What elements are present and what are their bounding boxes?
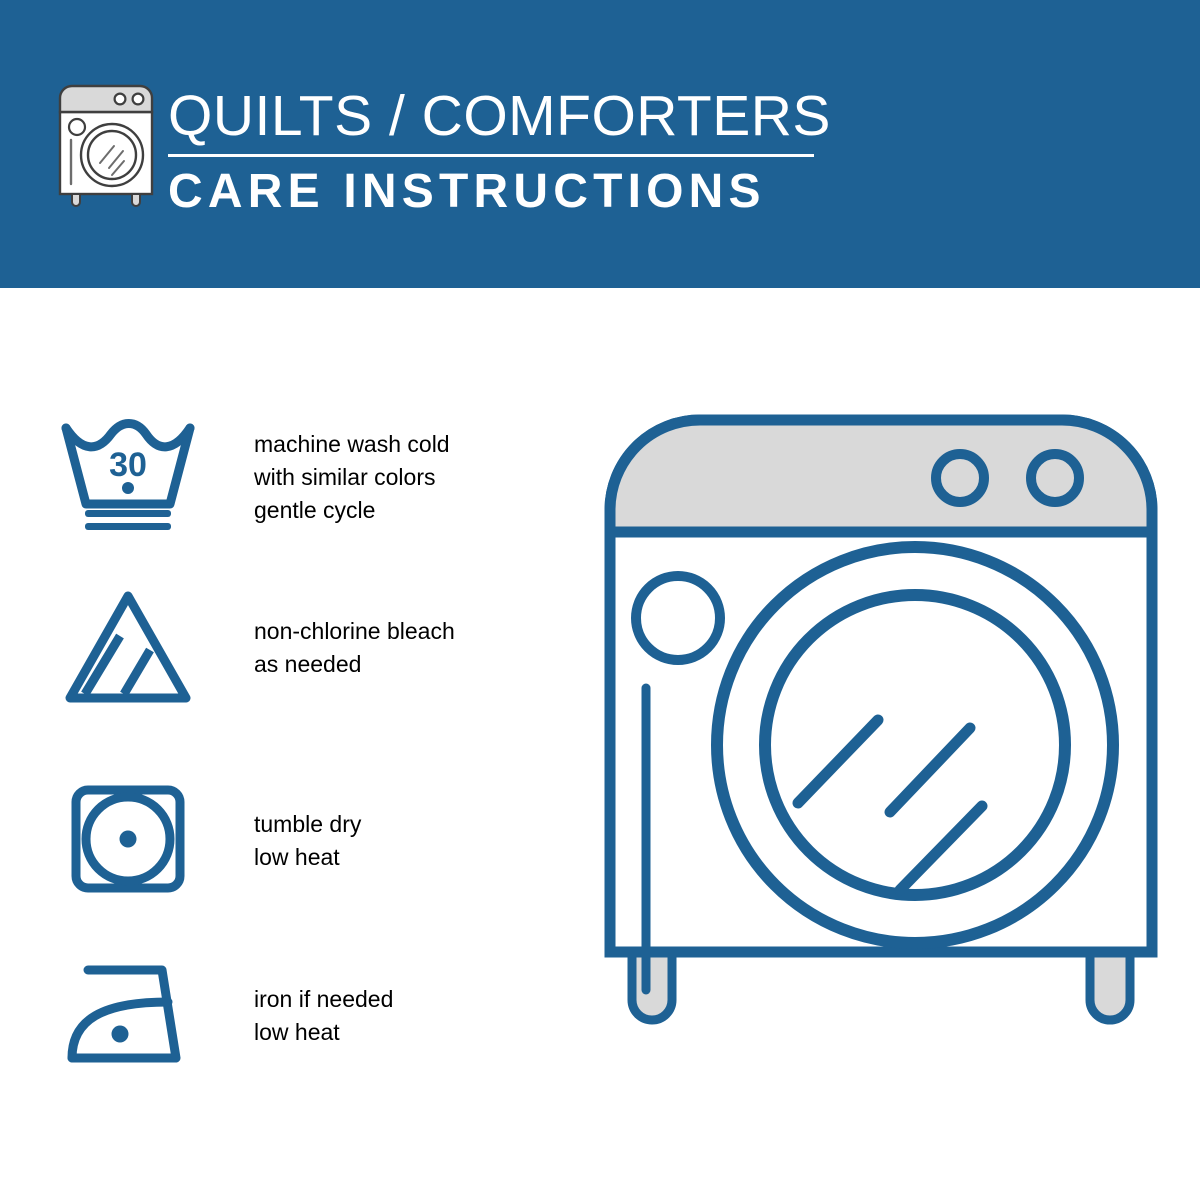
page-subtitle: CARE INSTRUCTIONS	[168, 166, 828, 218]
iron-low-heat-icon	[58, 958, 198, 1078]
header-banner: QUILTS / COMFORTERS CARE INSTRUCTIONS	[0, 0, 1200, 288]
wash-tub-30-gentle-icon: 30	[58, 418, 198, 538]
care-label-wash-line-2: with similar colors	[254, 461, 450, 494]
washing-machine-icon	[50, 80, 162, 210]
care-label-bleach-line-1: non-chlorine bleach	[254, 615, 455, 648]
care-label-iron: iron if needed low heat	[254, 983, 393, 1049]
care-label-bleach: non-chlorine bleach as needed	[254, 615, 455, 681]
tumble-dry-low-icon	[58, 783, 198, 903]
care-label-iron-line-1: iron if needed	[254, 983, 393, 1016]
page-title: QUILTS / COMFORTERS	[168, 85, 828, 147]
care-label-wash: machine wash cold with similar colors ge…	[254, 428, 450, 527]
non-chlorine-bleach-triangle-icon	[58, 588, 198, 708]
control-panel	[610, 420, 1152, 532]
care-instruction-list: 30 machine wash cold with similar colors…	[0, 288, 560, 1200]
header-title-block: QUILTS / COMFORTERS CARE INSTRUCTIONS	[168, 85, 828, 218]
care-label-bleach-line-2: as needed	[254, 648, 455, 681]
wash-temperature-value: 30	[109, 446, 147, 484]
care-instructions-page: QUILTS / COMFORTERS CARE INSTRUCTIONS 30	[0, 0, 1200, 1200]
care-label-tumble-dry: tumble dry low heat	[254, 808, 361, 874]
front-load-washing-machine-illustration	[590, 400, 1180, 1120]
title-divider	[168, 154, 814, 157]
care-label-tumble-dry-line-2: low heat	[254, 841, 361, 874]
care-label-tumble-dry-line-1: tumble dry	[254, 808, 361, 841]
care-label-iron-line-2: low heat	[254, 1016, 393, 1049]
care-label-wash-line-3: gentle cycle	[254, 494, 450, 527]
care-label-wash-line-1: machine wash cold	[254, 428, 450, 461]
